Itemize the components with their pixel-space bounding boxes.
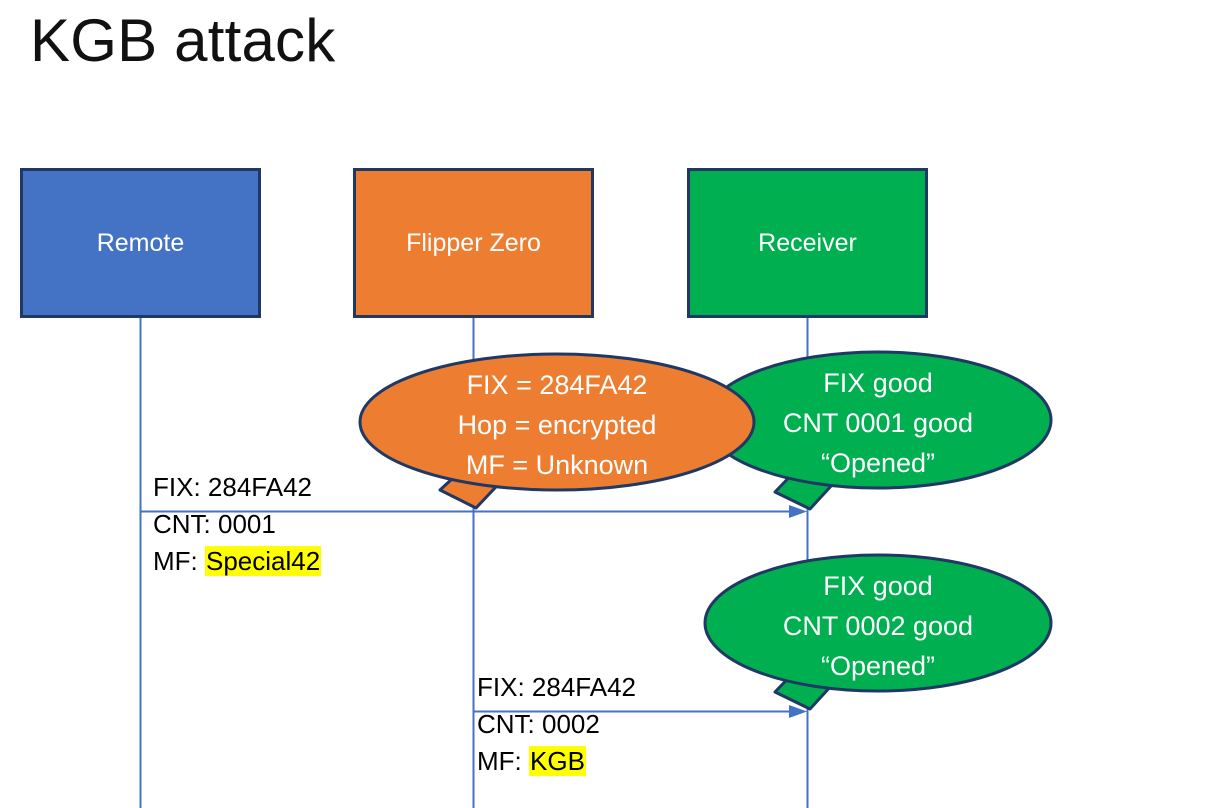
actor-box-flipper[interactable]: Flipper Zero (353, 168, 594, 318)
slide-canvas: KGB attack Remote Flippe (0, 0, 1218, 808)
message-2-line-3-prefix: MF: (477, 746, 529, 776)
message-1-line-2-prefix: CNT: (153, 509, 218, 539)
message-2-line-1-prefix: FIX: (477, 672, 532, 702)
receiver-callout-2 (705, 555, 1051, 709)
flipper-callout-bubble (360, 354, 754, 490)
actor-box-remote[interactable]: Remote (20, 168, 261, 318)
message-1-line-2: CNT: 0001 (153, 506, 321, 543)
actor-label-flipper: Flipper Zero (406, 228, 541, 258)
message-1-line-2-value: 0001 (218, 509, 276, 539)
actor-label-remote: Remote (97, 228, 185, 258)
message-2-label: FIX: 284FA42 CNT: 0002 MF: KGB (477, 669, 636, 780)
message-1-line-1: FIX: 284FA42 (153, 469, 321, 506)
message-2-line-3: MF: KGB (477, 743, 636, 780)
message-1-line-3-value: Special42 (205, 546, 321, 576)
message-2-line-3-value: KGB (529, 746, 586, 776)
message-1-line-1-prefix: FIX: (153, 472, 208, 502)
message-1-line-1-value: 284FA42 (208, 472, 312, 502)
flipper-callout (360, 354, 754, 508)
message-2-line-2-prefix: CNT: (477, 709, 542, 739)
actor-label-receiver: Receiver (758, 228, 857, 258)
message-2-line-1-value: 284FA42 (532, 672, 636, 702)
message-1-label: FIX: 284FA42 CNT: 0001 MF: Special42 (153, 469, 321, 580)
message-2-line-1: FIX: 284FA42 (477, 669, 636, 706)
receiver-callout-1 (705, 352, 1051, 509)
receiver-callout-2-bubble (705, 555, 1051, 691)
receiver-callout-1-bubble (705, 352, 1051, 488)
message-2-line-2-value: 0002 (542, 709, 600, 739)
message-2-line-2: CNT: 0002 (477, 706, 636, 743)
message-1-line-3: MF: Special42 (153, 543, 321, 580)
actor-box-receiver[interactable]: Receiver (687, 168, 928, 318)
message-1-line-3-prefix: MF: (153, 546, 205, 576)
